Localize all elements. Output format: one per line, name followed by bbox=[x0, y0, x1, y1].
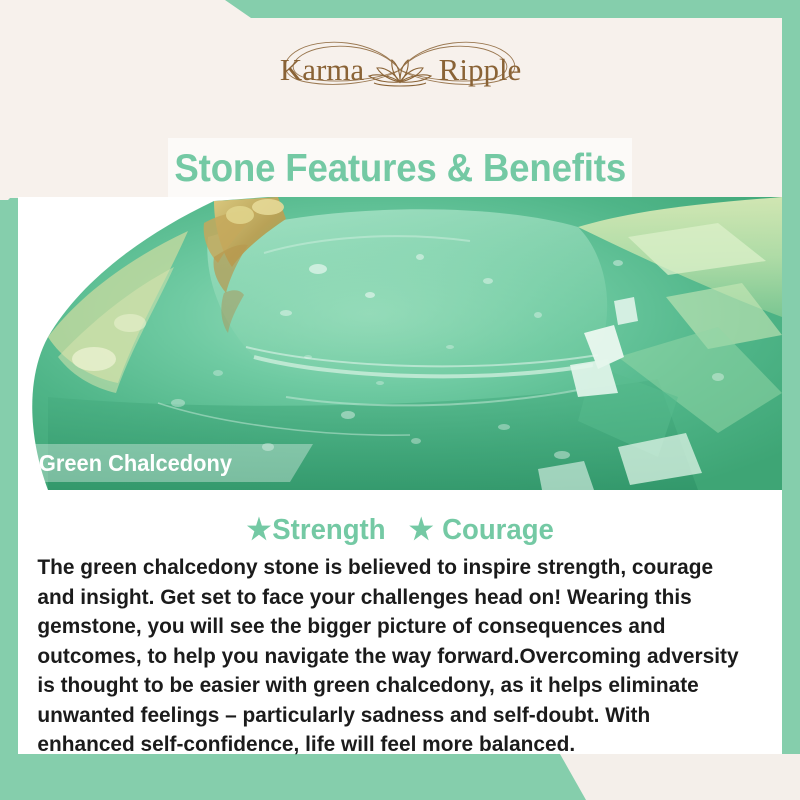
brand-word-right: Ripple bbox=[439, 52, 522, 87]
frame-band-left bbox=[0, 198, 18, 800]
title-band: Stone Features & Benefits bbox=[168, 138, 632, 200]
brand-logo[interactable]: Karma Ripple bbox=[250, 32, 550, 108]
keyword-strength-label: Strength bbox=[272, 514, 385, 546]
brand-word-left: Karma bbox=[280, 52, 365, 87]
content-panel: ★Strength ★ Courage The green chalcedony… bbox=[18, 490, 782, 754]
poster-canvas: Karma Ripple Stone Features & Benefits bbox=[0, 0, 800, 800]
page-title: Stone Features & Benefits bbox=[174, 147, 626, 191]
hero-caption-band: Green Chalcedony bbox=[18, 444, 313, 482]
brand-header: Karma Ripple bbox=[0, 0, 800, 140]
star-icon: ★ bbox=[409, 514, 435, 546]
brand-logo-artwork: Karma Ripple bbox=[250, 32, 550, 108]
body-paragraph: The green chalcedony stone is believed t… bbox=[18, 553, 759, 760]
hero-image: Green Chalcedony bbox=[18, 197, 782, 490]
keyword-row: ★Strength ★ Courage bbox=[18, 490, 782, 547]
lotus-icon bbox=[369, 60, 431, 86]
keyword-courage: ★ Courage bbox=[409, 512, 554, 547]
keyword-strength: ★Strength bbox=[246, 512, 385, 547]
star-icon: ★ bbox=[246, 514, 272, 546]
keyword-courage-label: Courage bbox=[442, 514, 554, 546]
background-plate-bottom-cream bbox=[0, 754, 800, 800]
stone-name-label: Green Chalcedony bbox=[18, 450, 232, 477]
